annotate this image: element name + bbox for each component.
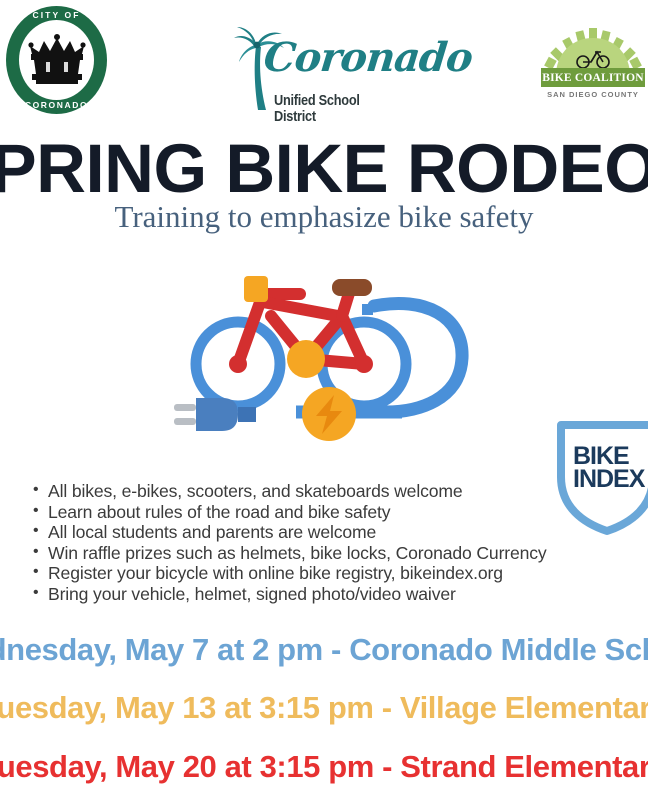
coronado-unified-school-district-logo: Coronado Unified School District bbox=[228, 22, 418, 114]
front-light bbox=[244, 276, 268, 302]
crown-icon bbox=[26, 34, 88, 86]
event-date-line-3: Tuesday, May 20 at 3:15 pm - Strand Elem… bbox=[0, 751, 648, 782]
bullet-list: All bikes, e-bikes, scooters, and skateb… bbox=[26, 481, 648, 604]
saddle bbox=[332, 279, 372, 296]
list-item: Win raffle prizes such as helmets, bike … bbox=[48, 543, 648, 564]
list-item: Register your bicycle with online bike r… bbox=[48, 563, 648, 584]
seal-text-top: CITY OF bbox=[6, 10, 107, 20]
flyer-canvas: CITY OF CORONADO bbox=[0, 0, 648, 800]
seal-text-bottom: CORONADO bbox=[6, 100, 107, 110]
logo-row: CITY OF CORONADO bbox=[0, 0, 648, 125]
list-item: Bring your vehicle, helmet, signed photo… bbox=[48, 584, 648, 605]
list-item: Learn about rules of the road and bike s… bbox=[48, 502, 648, 523]
page-subtitle: Training to emphasize bike safety bbox=[0, 200, 648, 234]
electric-bicycle-illustration bbox=[166, 254, 486, 464]
city-of-coronado-seal: CITY OF CORONADO bbox=[6, 6, 107, 114]
event-date-line-2: Tuesday, May 13 at 3:15 pm - Village Ele… bbox=[0, 692, 648, 723]
page-title: SPRING BIKE RODEOS bbox=[0, 134, 648, 203]
bike-coalition-region: SAN DIEGO COUNTY bbox=[541, 90, 645, 99]
crank bbox=[287, 340, 325, 378]
list-item: All bikes, e-bikes, scooters, and skateb… bbox=[48, 481, 648, 502]
bike-coalition-name-bar: BIKE COALITION bbox=[541, 68, 645, 87]
sunburst-icon bbox=[541, 28, 645, 72]
list-item: All local students and parents are welco… bbox=[48, 522, 648, 543]
event-date-line-1: Wednesday, May 7 at 2 pm - Coronado Midd… bbox=[0, 634, 648, 665]
bike-coalition-name: BIKE COALITION bbox=[542, 72, 644, 84]
cusd-script-wordmark: Coronado bbox=[262, 38, 474, 78]
cusd-subtitle: Unified School District bbox=[274, 93, 401, 125]
bike-coalition-logo: BIKE COALITION SAN DIEGO COUNTY bbox=[541, 28, 645, 106]
